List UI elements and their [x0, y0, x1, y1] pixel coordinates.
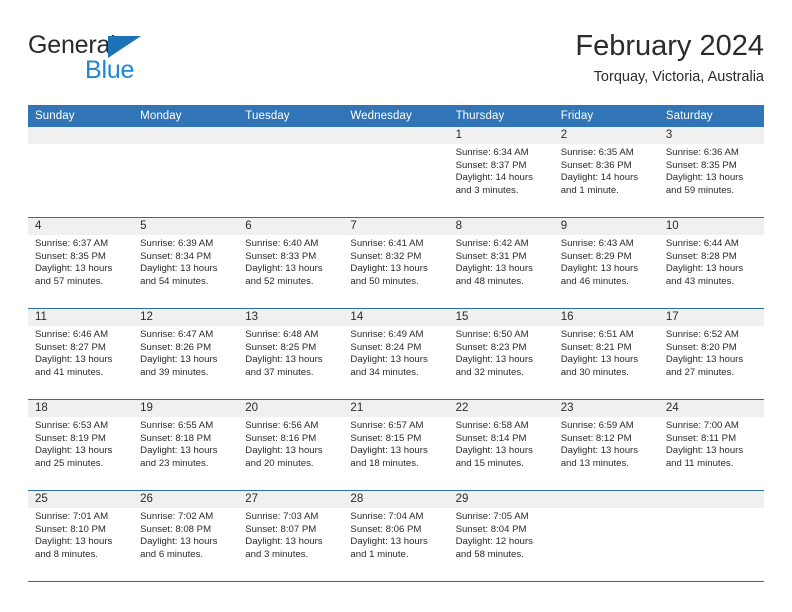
calendar-day-cell[interactable]: 27Sunrise: 7:03 AMSunset: 8:07 PMDayligh… [238, 491, 343, 582]
sunrise-text: Sunrise: 6:51 AM [561, 329, 653, 342]
calendar-day-cell[interactable]: 29Sunrise: 7:05 AMSunset: 8:04 PMDayligh… [449, 491, 554, 582]
weekday-header-tuesday: Tuesday [238, 105, 343, 127]
calendar-week-row: 18Sunrise: 6:53 AMSunset: 8:19 PMDayligh… [28, 400, 764, 491]
day-details: Sunrise: 6:44 AMSunset: 8:28 PMDaylight:… [659, 235, 764, 288]
calendar-page: General Blue February 2024 Torquay, Vict… [0, 0, 792, 612]
sunrise-text: Sunrise: 7:00 AM [666, 420, 758, 433]
calendar-day: 3Sunrise: 6:36 AMSunset: 8:35 PMDaylight… [659, 127, 764, 215]
sunrise-text: Sunrise: 6:39 AM [140, 238, 232, 251]
sunset-text: Sunset: 8:28 PM [666, 251, 758, 264]
calendar-day-cell[interactable]: 9Sunrise: 6:43 AMSunset: 8:29 PMDaylight… [554, 218, 659, 309]
day-number: 17 [659, 309, 764, 326]
day-number: 25 [28, 491, 133, 508]
day-details: Sunrise: 6:59 AMSunset: 8:12 PMDaylight:… [554, 417, 659, 470]
calendar-week-row: 4Sunrise: 6:37 AMSunset: 8:35 PMDaylight… [28, 218, 764, 309]
day-details: Sunrise: 7:02 AMSunset: 8:08 PMDaylight:… [133, 508, 238, 561]
calendar-day: 20Sunrise: 6:56 AMSunset: 8:16 PMDayligh… [238, 400, 343, 488]
day-number: 29 [449, 491, 554, 508]
day-details: Sunrise: 6:52 AMSunset: 8:20 PMDaylight:… [659, 326, 764, 379]
calendar-day-cell[interactable] [133, 127, 238, 218]
page-header: General Blue February 2024 Torquay, Vict… [28, 28, 764, 96]
calendar-day: 26Sunrise: 7:02 AMSunset: 8:08 PMDayligh… [133, 491, 238, 579]
sunset-text: Sunset: 8:33 PM [245, 251, 337, 264]
daylight-text: Daylight: 13 hours and 46 minutes. [561, 263, 653, 288]
day-number: 13 [238, 309, 343, 326]
daylight-text: Daylight: 13 hours and 18 minutes. [350, 445, 442, 470]
sunrise-text: Sunrise: 6:34 AM [456, 147, 548, 160]
sunrise-text: Sunrise: 6:41 AM [350, 238, 442, 251]
day-details: Sunrise: 6:56 AMSunset: 8:16 PMDaylight:… [238, 417, 343, 470]
day-number: 7 [343, 218, 448, 235]
calendar-week-row: 1Sunrise: 6:34 AMSunset: 8:37 PMDaylight… [28, 127, 764, 218]
calendar-day: 10Sunrise: 6:44 AMSunset: 8:28 PMDayligh… [659, 218, 764, 306]
day-details: Sunrise: 6:53 AMSunset: 8:19 PMDaylight:… [28, 417, 133, 470]
calendar-body: 1Sunrise: 6:34 AMSunset: 8:37 PMDaylight… [28, 127, 764, 582]
sunrise-text: Sunrise: 6:49 AM [350, 329, 442, 342]
calendar-day: 1Sunrise: 6:34 AMSunset: 8:37 PMDaylight… [449, 127, 554, 215]
day-details: Sunrise: 6:47 AMSunset: 8:26 PMDaylight:… [133, 326, 238, 379]
calendar-day: 21Sunrise: 6:57 AMSunset: 8:15 PMDayligh… [343, 400, 448, 488]
daylight-text: Daylight: 13 hours and 20 minutes. [245, 445, 337, 470]
day-number: 27 [238, 491, 343, 508]
sunset-text: Sunset: 8:31 PM [456, 251, 548, 264]
daylight-text: Daylight: 13 hours and 32 minutes. [456, 354, 548, 379]
day-details: Sunrise: 6:57 AMSunset: 8:15 PMDaylight:… [343, 417, 448, 470]
daylight-text: Daylight: 13 hours and 6 minutes. [140, 536, 232, 561]
day-details: Sunrise: 7:05 AMSunset: 8:04 PMDaylight:… [449, 508, 554, 561]
calendar-day-cell[interactable] [238, 127, 343, 218]
calendar-day-cell[interactable]: 6Sunrise: 6:40 AMSunset: 8:33 PMDaylight… [238, 218, 343, 309]
day-details: Sunrise: 6:37 AMSunset: 8:35 PMDaylight:… [28, 235, 133, 288]
sunset-text: Sunset: 8:23 PM [456, 342, 548, 355]
sunrise-text: Sunrise: 7:05 AM [456, 511, 548, 524]
sunrise-text: Sunrise: 7:04 AM [350, 511, 442, 524]
calendar-day-cell[interactable]: 8Sunrise: 6:42 AMSunset: 8:31 PMDaylight… [449, 218, 554, 309]
day-number: 3 [659, 127, 764, 144]
sunrise-text: Sunrise: 7:03 AM [245, 511, 337, 524]
weekday-header-wednesday: Wednesday [343, 105, 448, 127]
sunrise-text: Sunrise: 6:50 AM [456, 329, 548, 342]
sunset-text: Sunset: 8:19 PM [35, 433, 127, 446]
day-number: 2 [554, 127, 659, 144]
daylight-text: Daylight: 13 hours and 57 minutes. [35, 263, 127, 288]
sunrise-text: Sunrise: 6:37 AM [35, 238, 127, 251]
calendar-week-row: 25Sunrise: 7:01 AMSunset: 8:10 PMDayligh… [28, 491, 764, 582]
day-number: 22 [449, 400, 554, 417]
weekday-header-monday: Monday [133, 105, 238, 127]
sunset-text: Sunset: 8:20 PM [666, 342, 758, 355]
daylight-text: Daylight: 14 hours and 1 minute. [561, 172, 653, 197]
calendar-day-cell[interactable]: 5Sunrise: 6:39 AMSunset: 8:34 PMDaylight… [133, 218, 238, 309]
calendar-day-cell[interactable]: 23Sunrise: 6:59 AMSunset: 8:12 PMDayligh… [554, 400, 659, 491]
day-number: 11 [28, 309, 133, 326]
calendar-day: 14Sunrise: 6:49 AMSunset: 8:24 PMDayligh… [343, 309, 448, 397]
day-number: 9 [554, 218, 659, 235]
calendar-day-cell[interactable]: 19Sunrise: 6:55 AMSunset: 8:18 PMDayligh… [133, 400, 238, 491]
daylight-text: Daylight: 13 hours and 48 minutes. [456, 263, 548, 288]
sunset-text: Sunset: 8:35 PM [666, 160, 758, 173]
day-number: 28 [343, 491, 448, 508]
sunset-text: Sunset: 8:10 PM [35, 524, 127, 537]
daylight-text: Daylight: 13 hours and 30 minutes. [561, 354, 653, 379]
daylight-text: Daylight: 13 hours and 59 minutes. [666, 172, 758, 197]
sunset-text: Sunset: 8:21 PM [561, 342, 653, 355]
daylight-text: Daylight: 13 hours and 15 minutes. [456, 445, 548, 470]
day-details: Sunrise: 6:46 AMSunset: 8:27 PMDaylight:… [28, 326, 133, 379]
title-block: February 2024 Torquay, Victoria, Austral… [575, 28, 764, 88]
calendar-day: 24Sunrise: 7:00 AMSunset: 8:11 PMDayligh… [659, 400, 764, 488]
day-details: Sunrise: 6:58 AMSunset: 8:14 PMDaylight:… [449, 417, 554, 470]
day-details: Sunrise: 6:35 AMSunset: 8:36 PMDaylight:… [554, 144, 659, 197]
calendar-table: Sunday Monday Tuesday Wednesday Thursday… [28, 105, 764, 582]
day-details: Sunrise: 6:43 AMSunset: 8:29 PMDaylight:… [554, 235, 659, 288]
day-number: 20 [238, 400, 343, 417]
sunset-text: Sunset: 8:08 PM [140, 524, 232, 537]
daylight-text: Daylight: 13 hours and 8 minutes. [35, 536, 127, 561]
brand-name-general: General [28, 32, 258, 59]
calendar-day-cell[interactable]: 14Sunrise: 6:49 AMSunset: 8:24 PMDayligh… [343, 309, 448, 400]
day-details: Sunrise: 6:51 AMSunset: 8:21 PMDaylight:… [554, 326, 659, 379]
day-number: 12 [133, 309, 238, 326]
day-number: 8 [449, 218, 554, 235]
calendar-day: 25Sunrise: 7:01 AMSunset: 8:10 PMDayligh… [28, 491, 133, 579]
calendar-day-cell[interactable] [28, 127, 133, 218]
weekday-header-friday: Friday [554, 105, 659, 127]
sunset-text: Sunset: 8:34 PM [140, 251, 232, 264]
sunset-text: Sunset: 8:16 PM [245, 433, 337, 446]
day-number: 15 [449, 309, 554, 326]
calendar-day-cell[interactable]: 3Sunrise: 6:36 AMSunset: 8:35 PMDaylight… [659, 127, 764, 218]
day-details: Sunrise: 7:01 AMSunset: 8:10 PMDaylight:… [28, 508, 133, 561]
sunset-text: Sunset: 8:06 PM [350, 524, 442, 537]
calendar-day-cell[interactable]: 1Sunrise: 6:34 AMSunset: 8:37 PMDaylight… [449, 127, 554, 218]
day-number [28, 127, 133, 144]
daylight-text: Daylight: 13 hours and 3 minutes. [245, 536, 337, 561]
calendar-day-cell[interactable]: 16Sunrise: 6:51 AMSunset: 8:21 PMDayligh… [554, 309, 659, 400]
daylight-text: Daylight: 12 hours and 58 minutes. [456, 536, 548, 561]
sunrise-text: Sunrise: 6:36 AM [666, 147, 758, 160]
day-details: Sunrise: 7:03 AMSunset: 8:07 PMDaylight:… [238, 508, 343, 561]
calendar-day: 11Sunrise: 6:46 AMSunset: 8:27 PMDayligh… [28, 309, 133, 397]
calendar-day: 2Sunrise: 6:35 AMSunset: 8:36 PMDaylight… [554, 127, 659, 215]
calendar-day: 28Sunrise: 7:04 AMSunset: 8:06 PMDayligh… [343, 491, 448, 579]
daylight-text: Daylight: 13 hours and 39 minutes. [140, 354, 232, 379]
daylight-text: Daylight: 13 hours and 1 minute. [350, 536, 442, 561]
sunrise-text: Sunrise: 6:47 AM [140, 329, 232, 342]
daylight-text: Daylight: 13 hours and 50 minutes. [350, 263, 442, 288]
day-number [343, 127, 448, 144]
calendar-day: 23Sunrise: 6:59 AMSunset: 8:12 PMDayligh… [554, 400, 659, 488]
calendar-day-cell[interactable]: 18Sunrise: 6:53 AMSunset: 8:19 PMDayligh… [28, 400, 133, 491]
calendar-day-empty [28, 127, 133, 215]
calendar-day: 22Sunrise: 6:58 AMSunset: 8:14 PMDayligh… [449, 400, 554, 488]
calendar-day-cell[interactable]: 10Sunrise: 6:44 AMSunset: 8:28 PMDayligh… [659, 218, 764, 309]
weekday-header-thursday: Thursday [449, 105, 554, 127]
calendar-day: 8Sunrise: 6:42 AMSunset: 8:31 PMDaylight… [449, 218, 554, 306]
calendar-week-row: 11Sunrise: 6:46 AMSunset: 8:27 PMDayligh… [28, 309, 764, 400]
day-number: 19 [133, 400, 238, 417]
daylight-text: Daylight: 13 hours and 27 minutes. [666, 354, 758, 379]
brand-logo[interactable]: General Blue [28, 32, 258, 90]
calendar-day-empty [343, 127, 448, 215]
sunrise-text: Sunrise: 7:02 AM [140, 511, 232, 524]
sunrise-text: Sunrise: 6:46 AM [35, 329, 127, 342]
calendar-day: 7Sunrise: 6:41 AMSunset: 8:32 PMDaylight… [343, 218, 448, 306]
daylight-text: Daylight: 13 hours and 11 minutes. [666, 445, 758, 470]
day-number: 24 [659, 400, 764, 417]
calendar-day-cell[interactable]: 26Sunrise: 7:02 AMSunset: 8:08 PMDayligh… [133, 491, 238, 582]
calendar-day: 29Sunrise: 7:05 AMSunset: 8:04 PMDayligh… [449, 491, 554, 579]
day-details: Sunrise: 7:00 AMSunset: 8:11 PMDaylight:… [659, 417, 764, 470]
calendar-day-cell[interactable]: 25Sunrise: 7:01 AMSunset: 8:10 PMDayligh… [28, 491, 133, 582]
brand-name-blue: Blue [85, 57, 134, 84]
calendar-day: 9Sunrise: 6:43 AMSunset: 8:29 PMDaylight… [554, 218, 659, 306]
calendar-day-empty [554, 491, 659, 579]
day-number: 16 [554, 309, 659, 326]
day-number: 26 [133, 491, 238, 508]
day-number [659, 491, 764, 508]
sunrise-text: Sunrise: 6:44 AM [666, 238, 758, 251]
sunset-text: Sunset: 8:11 PM [666, 433, 758, 446]
day-number: 18 [28, 400, 133, 417]
day-number: 21 [343, 400, 448, 417]
sunset-text: Sunset: 8:15 PM [350, 433, 442, 446]
calendar-day-cell[interactable]: 7Sunrise: 6:41 AMSunset: 8:32 PMDaylight… [343, 218, 448, 309]
calendar-day: 12Sunrise: 6:47 AMSunset: 8:26 PMDayligh… [133, 309, 238, 397]
day-details: Sunrise: 6:48 AMSunset: 8:25 PMDaylight:… [238, 326, 343, 379]
sunset-text: Sunset: 8:27 PM [35, 342, 127, 355]
calendar-day-cell[interactable]: 28Sunrise: 7:04 AMSunset: 8:06 PMDayligh… [343, 491, 448, 582]
calendar-day-empty [659, 491, 764, 579]
sunset-text: Sunset: 8:29 PM [561, 251, 653, 264]
calendar-day-cell[interactable] [659, 491, 764, 582]
day-number: 6 [238, 218, 343, 235]
weekday-header-saturday: Saturday [659, 105, 764, 127]
calendar-day: 4Sunrise: 6:37 AMSunset: 8:35 PMDaylight… [28, 218, 133, 306]
sunset-text: Sunset: 8:07 PM [245, 524, 337, 537]
calendar-day: 18Sunrise: 6:53 AMSunset: 8:19 PMDayligh… [28, 400, 133, 488]
sunrise-text: Sunrise: 6:55 AM [140, 420, 232, 433]
sunset-text: Sunset: 8:36 PM [561, 160, 653, 173]
sunrise-text: Sunrise: 6:48 AM [245, 329, 337, 342]
sunset-text: Sunset: 8:35 PM [35, 251, 127, 264]
calendar-day: 17Sunrise: 6:52 AMSunset: 8:20 PMDayligh… [659, 309, 764, 397]
day-number: 14 [343, 309, 448, 326]
sunset-text: Sunset: 8:18 PM [140, 433, 232, 446]
calendar-day-cell[interactable]: 22Sunrise: 6:58 AMSunset: 8:14 PMDayligh… [449, 400, 554, 491]
day-number [554, 491, 659, 508]
calendar-day: 5Sunrise: 6:39 AMSunset: 8:34 PMDaylight… [133, 218, 238, 306]
calendar-day-cell[interactable]: 17Sunrise: 6:52 AMSunset: 8:20 PMDayligh… [659, 309, 764, 400]
calendar-day-cell[interactable]: 13Sunrise: 6:48 AMSunset: 8:25 PMDayligh… [238, 309, 343, 400]
triangle-logo-icon [108, 36, 141, 58]
day-number: 23 [554, 400, 659, 417]
sunrise-text: Sunrise: 6:57 AM [350, 420, 442, 433]
day-details: Sunrise: 6:50 AMSunset: 8:23 PMDaylight:… [449, 326, 554, 379]
sunrise-text: Sunrise: 6:40 AM [245, 238, 337, 251]
day-number [133, 127, 238, 144]
calendar-day-cell[interactable]: 11Sunrise: 6:46 AMSunset: 8:27 PMDayligh… [28, 309, 133, 400]
sunrise-text: Sunrise: 6:42 AM [456, 238, 548, 251]
sunrise-text: Sunrise: 6:35 AM [561, 147, 653, 160]
day-number: 5 [133, 218, 238, 235]
sunrise-text: Sunrise: 6:53 AM [35, 420, 127, 433]
calendar-day-empty [238, 127, 343, 215]
calendar-day-cell[interactable]: 12Sunrise: 6:47 AMSunset: 8:26 PMDayligh… [133, 309, 238, 400]
day-details: Sunrise: 6:34 AMSunset: 8:37 PMDaylight:… [449, 144, 554, 197]
daylight-text: Daylight: 13 hours and 37 minutes. [245, 354, 337, 379]
day-details: Sunrise: 6:36 AMSunset: 8:35 PMDaylight:… [659, 144, 764, 197]
sunrise-text: Sunrise: 6:43 AM [561, 238, 653, 251]
calendar-day-cell[interactable] [554, 491, 659, 582]
sunrise-text: Sunrise: 6:59 AM [561, 420, 653, 433]
calendar-day-cell[interactable]: 4Sunrise: 6:37 AMSunset: 8:35 PMDaylight… [28, 218, 133, 309]
calendar-day: 19Sunrise: 6:55 AMSunset: 8:18 PMDayligh… [133, 400, 238, 488]
day-details: Sunrise: 6:49 AMSunset: 8:24 PMDaylight:… [343, 326, 448, 379]
calendar-day-cell[interactable] [343, 127, 448, 218]
daylight-text: Daylight: 13 hours and 43 minutes. [666, 263, 758, 288]
day-number: 10 [659, 218, 764, 235]
daylight-text: Daylight: 13 hours and 41 minutes. [35, 354, 127, 379]
calendar-day: 16Sunrise: 6:51 AMSunset: 8:21 PMDayligh… [554, 309, 659, 397]
sunrise-text: Sunrise: 6:52 AM [666, 329, 758, 342]
day-number: 1 [449, 127, 554, 144]
calendar-day-cell[interactable]: 21Sunrise: 6:57 AMSunset: 8:15 PMDayligh… [343, 400, 448, 491]
calendar-day-cell[interactable]: 2Sunrise: 6:35 AMSunset: 8:36 PMDaylight… [554, 127, 659, 218]
daylight-text: Daylight: 13 hours and 34 minutes. [350, 354, 442, 379]
sunset-text: Sunset: 8:25 PM [245, 342, 337, 355]
sunrise-text: Sunrise: 6:58 AM [456, 420, 548, 433]
sunrise-text: Sunrise: 6:56 AM [245, 420, 337, 433]
day-details: Sunrise: 6:39 AMSunset: 8:34 PMDaylight:… [133, 235, 238, 288]
weekday-header-row: Sunday Monday Tuesday Wednesday Thursday… [28, 105, 764, 127]
daylight-text: Daylight: 13 hours and 13 minutes. [561, 445, 653, 470]
calendar-day: 13Sunrise: 6:48 AMSunset: 8:25 PMDayligh… [238, 309, 343, 397]
day-details: Sunrise: 6:55 AMSunset: 8:18 PMDaylight:… [133, 417, 238, 470]
day-details: Sunrise: 6:41 AMSunset: 8:32 PMDaylight:… [343, 235, 448, 288]
calendar-day: 27Sunrise: 7:03 AMSunset: 8:07 PMDayligh… [238, 491, 343, 579]
day-number: 4 [28, 218, 133, 235]
daylight-text: Daylight: 13 hours and 23 minutes. [140, 445, 232, 470]
daylight-text: Daylight: 13 hours and 52 minutes. [245, 263, 337, 288]
calendar-day: 15Sunrise: 6:50 AMSunset: 8:23 PMDayligh… [449, 309, 554, 397]
daylight-text: Daylight: 13 hours and 25 minutes. [35, 445, 127, 470]
sunset-text: Sunset: 8:37 PM [456, 160, 548, 173]
calendar-day-empty [133, 127, 238, 215]
sunset-text: Sunset: 8:04 PM [456, 524, 548, 537]
sunset-text: Sunset: 8:26 PM [140, 342, 232, 355]
daylight-text: Daylight: 14 hours and 3 minutes. [456, 172, 548, 197]
sunset-text: Sunset: 8:24 PM [350, 342, 442, 355]
day-details: Sunrise: 7:04 AMSunset: 8:06 PMDaylight:… [343, 508, 448, 561]
weekday-header-sunday: Sunday [28, 105, 133, 127]
day-details: Sunrise: 6:42 AMSunset: 8:31 PMDaylight:… [449, 235, 554, 288]
day-number [238, 127, 343, 144]
sunrise-text: Sunrise: 7:01 AM [35, 511, 127, 524]
sunset-text: Sunset: 8:32 PM [350, 251, 442, 264]
calendar-day-cell[interactable]: 20Sunrise: 6:56 AMSunset: 8:16 PMDayligh… [238, 400, 343, 491]
sunset-text: Sunset: 8:14 PM [456, 433, 548, 446]
daylight-text: Daylight: 13 hours and 54 minutes. [140, 263, 232, 288]
page-title: February 2024 [575, 28, 764, 64]
calendar-day-cell[interactable]: 15Sunrise: 6:50 AMSunset: 8:23 PMDayligh… [449, 309, 554, 400]
calendar-day: 6Sunrise: 6:40 AMSunset: 8:33 PMDaylight… [238, 218, 343, 306]
location-subtitle: Torquay, Victoria, Australia [575, 66, 764, 88]
day-details: Sunrise: 6:40 AMSunset: 8:33 PMDaylight:… [238, 235, 343, 288]
calendar-day-cell[interactable]: 24Sunrise: 7:00 AMSunset: 8:11 PMDayligh… [659, 400, 764, 491]
sunset-text: Sunset: 8:12 PM [561, 433, 653, 446]
